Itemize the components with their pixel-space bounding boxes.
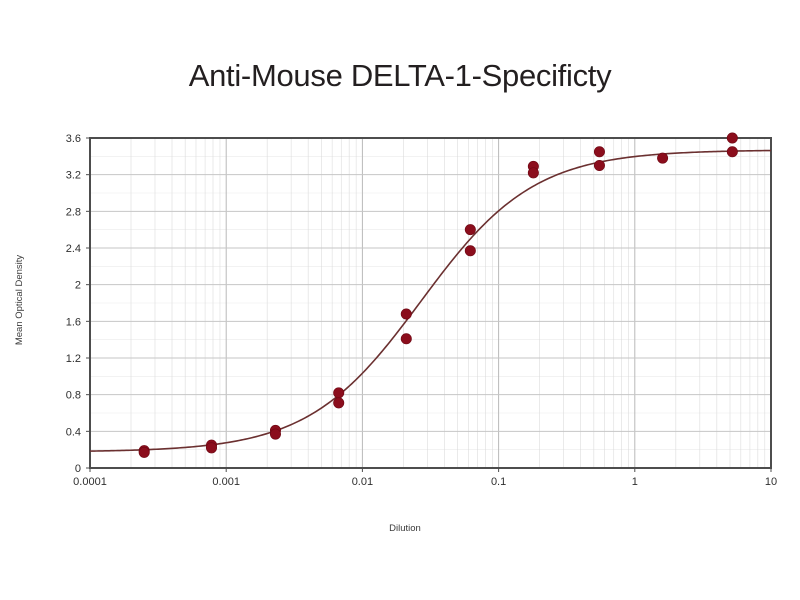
data-point[interactable] xyxy=(334,398,344,408)
x-axis-ticks: 0.00010.0010.010.1110 xyxy=(73,468,777,488)
data-point[interactable] xyxy=(401,334,411,344)
data-point[interactable] xyxy=(139,447,149,457)
y-tick-label: 2 xyxy=(75,280,81,292)
data-point[interactable] xyxy=(657,153,667,163)
data-point[interactable] xyxy=(727,133,737,143)
data-point[interactable] xyxy=(401,309,411,319)
x-axis-title: Dilution xyxy=(389,523,421,534)
data-point[interactable] xyxy=(465,246,475,256)
x-tick-label: 0.001 xyxy=(212,476,240,488)
data-point[interactable] xyxy=(528,168,538,178)
y-tick-label: 0.8 xyxy=(66,390,81,402)
y-tick-label: 0.4 xyxy=(66,426,81,438)
y-tick-label: 0 xyxy=(75,463,81,475)
figure-canvas: Anti-Mouse DELTA-1-Specificty 0.00010.00… xyxy=(0,0,800,600)
y-tick-label: 1.2 xyxy=(66,353,81,365)
x-tick-label: 0.01 xyxy=(352,476,373,488)
data-point[interactable] xyxy=(206,443,216,453)
data-point[interactable] xyxy=(594,160,604,170)
data-point[interactable] xyxy=(334,388,344,398)
y-axis-ticks: 00.40.81.21.622.42.83.23.6 xyxy=(66,133,90,475)
y-tick-label: 3.2 xyxy=(66,170,81,182)
y-tick-label: 3.6 xyxy=(66,133,81,145)
x-tick-label: 0.0001 xyxy=(73,476,107,488)
y-tick-label: 2.8 xyxy=(66,206,81,218)
y-tick-label: 1.6 xyxy=(66,316,81,328)
data-point[interactable] xyxy=(594,147,604,157)
y-tick-label: 2.4 xyxy=(66,243,81,255)
data-point[interactable] xyxy=(727,147,737,157)
y-axis-title: Mean Optical Density xyxy=(14,255,25,346)
data-point[interactable] xyxy=(270,429,280,439)
dose-response-chart: 0.00010.0010.010.1110 00.40.81.21.622.42… xyxy=(0,0,800,600)
x-tick-label: 10 xyxy=(765,476,777,488)
x-tick-label: 1 xyxy=(632,476,638,488)
x-tick-label: 0.1 xyxy=(491,476,506,488)
data-point[interactable] xyxy=(465,224,475,234)
